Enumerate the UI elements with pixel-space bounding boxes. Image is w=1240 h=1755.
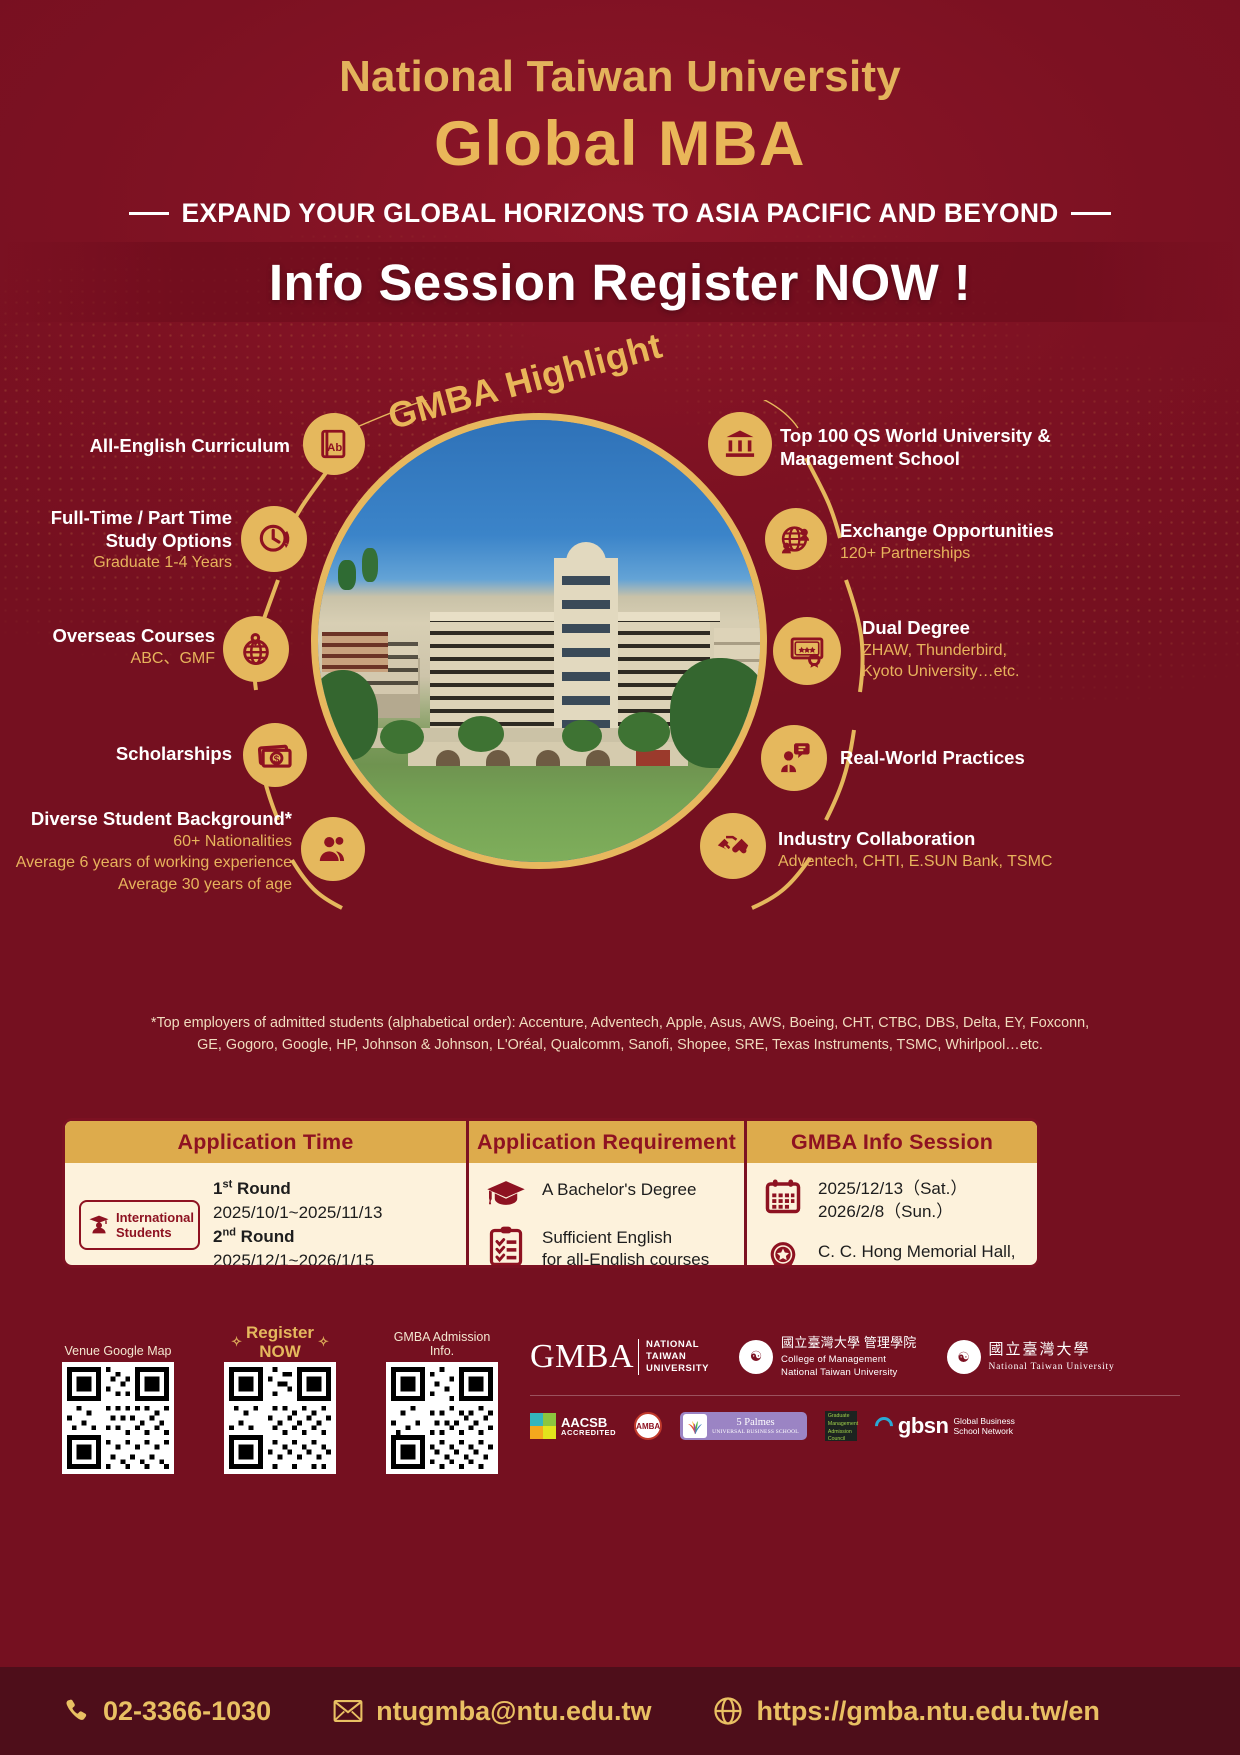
highlight-node-exchange-opportunities[interactable] <box>765 508 827 570</box>
logo-gmba-ntu: GMBA NATIONAL TAIWAN UNIVERSITY <box>530 1338 709 1376</box>
highlight-label-exchange-opportunities: Exchange Opportunities 120+ Partnerships <box>840 520 1054 564</box>
highlight-node-real-world-practices[interactable] <box>761 725 827 791</box>
highlight-label-all-english-curriculum: All-English Curriculum <box>0 435 290 458</box>
highlight-title: Exchange Opportunities <box>840 520 1054 543</box>
highlight-sub-1: 60+ Nationalities <box>0 832 292 853</box>
gbsn-arc-icon <box>871 1413 896 1438</box>
chip-label-line1: International <box>116 1210 194 1225</box>
highlight-sub: 120+ Partnerships <box>840 544 1054 565</box>
round-2-dates: 2025/12/1~2026/1/15 <box>213 1251 374 1268</box>
amba-text: AMBA <box>636 1422 660 1431</box>
contact-phone[interactable]: 02-3366-1030 <box>62 1696 271 1727</box>
globe-pin-icon <box>237 630 275 668</box>
phone-icon <box>62 1697 90 1725</box>
logo-ntu-en: National Taiwan University <box>989 1361 1115 1374</box>
venue-line2: 10F, Building 1, <box>818 1264 1025 1268</box>
sparkle-right-icon: ✧ <box>318 1335 329 1350</box>
calendar-icon <box>761 1177 805 1215</box>
chip-label: International Students <box>116 1210 194 1241</box>
logo-divider <box>530 1395 1180 1396</box>
register-banner-text: Info Session Register NOW ! <box>269 253 971 312</box>
gbsn-sub-line2: School Network <box>953 1426 1014 1436</box>
logo-ntu-cn: 國立臺灣大學 <box>989 1340 1115 1361</box>
highlight-label-industry-collaboration: Industry Collaboration Adventech, CHTI, … <box>778 828 1052 872</box>
panel-gmba-info-session: GMBA Info Session 2025/12/13（Sat.） 2026/… <box>744 1118 1040 1268</box>
highlight-label-dual-degree: Dual Degree ZHAW, Thunderbird, Kyoto Uni… <box>862 617 1019 683</box>
info-session-venue: C. C. Hong Memorial Hall, 10F, Building … <box>818 1240 1025 1268</box>
venue-line1: C. C. Hong Memorial Hall, <box>818 1241 1025 1264</box>
logo-gmac: Graduate Management Admission Council <box>825 1411 857 1441</box>
highlight-node-industry-collaboration[interactable] <box>700 813 766 879</box>
highlight-title: Dual Degree <box>862 617 1019 640</box>
highlight-title: Real-World Practices <box>840 747 1025 770</box>
page-title-line2: Global MBA <box>0 108 1240 180</box>
gbsn-sub-line1: Global Business <box>953 1416 1014 1426</box>
globe-people-icon <box>778 521 814 557</box>
logo-college-cn: 國立臺灣大學 管理學院 <box>781 1334 916 1352</box>
highlight-title: Industry Collaboration <box>778 828 1052 851</box>
info-session-dates: 2025/12/13（Sat.） 2026/2/8（Sun.） <box>818 1177 967 1223</box>
highlight-title-line2: Management School <box>780 448 1051 471</box>
highlight-node-all-english-curriculum[interactable]: Ab <box>303 413 365 475</box>
logo-gmba-subtext: NATIONAL TAIWAN UNIVERSITY <box>638 1339 709 1375</box>
list-item: Sufficient English for all-English cours… <box>483 1225 732 1268</box>
palmes-sub: UNIVERSAL BUSINESS SCHOOL <box>712 1429 799 1435</box>
logo-gmba-wordmark: GMBA <box>530 1338 634 1376</box>
round-2: 2nd Round 2025/12/1~2026/1/15 <box>213 1225 454 1268</box>
poster-header: National Taiwan University Global MBA EX… <box>0 0 1240 229</box>
chip-label-line2: Students <box>116 1225 194 1240</box>
qr-image-register[interactable] <box>224 1362 336 1474</box>
qr-caption-register: ✧ Register NOW ✧ <box>220 1322 340 1362</box>
logo-row-primary: GMBA NATIONAL TAIWAN UNIVERSITY ☯ 國立臺灣大學… <box>530 1330 1180 1384</box>
certificate-icon <box>788 632 826 670</box>
contact-phone-text: 02-3366-1030 <box>103 1696 271 1727</box>
logo-college-line1: College of Management <box>781 1353 916 1366</box>
panel-application-time: Application Time International Students <box>62 1118 466 1268</box>
panel-body: 2025/12/13（Sat.） 2026/2/8（Sun.） C. C. Ho… <box>747 1163 1037 1268</box>
highlight-sub: Adventech, CHTI, E.SUN Bank, TSMC <box>778 852 1052 873</box>
highlight-sub-2: Kyoto University…etc. <box>862 662 1019 683</box>
highlight-node-overseas-courses[interactable] <box>223 616 289 682</box>
panel-body: A Bachelor's Degree Sufficient English f… <box>469 1163 744 1268</box>
logo-college-line2: National Taiwan University <box>781 1366 916 1379</box>
contact-bar: 02-3366-1030 ntugmba@ntu.edu.tw https://… <box>0 1667 1240 1755</box>
qr-gmba-admission-info[interactable]: GMBA Admission Info. <box>382 1322 502 1474</box>
globe-icon <box>713 1696 743 1726</box>
qr-caption: Venue Google Map <box>58 1322 178 1362</box>
list-item-text: A Bachelor's Degree <box>542 1177 696 1201</box>
poster-root: National Taiwan University Global MBA EX… <box>0 0 1240 1755</box>
gbsn-subtext: Global Business School Network <box>953 1416 1014 1437</box>
campus-photo <box>311 413 767 869</box>
envelope-icon <box>333 1697 363 1725</box>
highlight-sub-3: Average 30 years of age <box>0 875 292 896</box>
highlight-sub: ABC、GMF <box>0 649 215 670</box>
highlight-label-overseas-courses: Overseas Courses ABC、GMF <box>0 625 215 669</box>
info-session-date-2: 2026/2/8（Sun.） <box>818 1201 967 1224</box>
list-item: A Bachelor's Degree <box>483 1177 732 1211</box>
list-item-venue: C. C. Hong Memorial Hall, 10F, Building … <box>761 1240 1025 1268</box>
highlight-node-diverse-student-background[interactable] <box>301 817 365 881</box>
list-item-dates: 2025/12/13（Sat.） 2026/2/8（Sun.） <box>761 1177 1025 1223</box>
register-banner: Info Session Register NOW ! <box>0 242 1240 322</box>
round-1-dates: 2025/10/1~2025/11/13 <box>213 1203 382 1222</box>
book-ab-icon: Ab <box>317 427 351 461</box>
tagline-dash-right <box>1071 212 1111 215</box>
table-row: International Students 1st Round 2025/10… <box>79 1177 454 1268</box>
round-1: 1st Round 2025/10/1~2025/11/13 <box>213 1177 454 1225</box>
highlight-label-top-100-qs: Top 100 QS World University & Management… <box>780 425 1051 470</box>
footnote: *Top employers of admitted students (alp… <box>70 1012 1170 1057</box>
highlight-title-line1: Full-Time / Part Time <box>0 507 232 530</box>
palmes-name: 5 Palmes <box>736 1417 774 1428</box>
logo-sub-line3: UNIVERSITY <box>646 1363 709 1375</box>
ntu-seal-icon: ☯ <box>739 1340 773 1374</box>
highlight-sub: Graduate 1-4 Years <box>0 553 232 574</box>
panel-heading: GMBA Info Session <box>747 1121 1037 1163</box>
qr-venue-google-map[interactable]: Venue Google Map <box>58 1322 178 1474</box>
qr-caption-line1: Register <box>246 1323 314 1342</box>
tagline-dash-left <box>129 212 169 215</box>
logo-ntu-text: 國立臺灣大學 National Taiwan University <box>989 1340 1115 1375</box>
logo-amba: AMBA <box>634 1412 662 1440</box>
logo-sub-line2: TAIWAN <box>646 1351 709 1363</box>
qr-image-admission-info[interactable] <box>386 1362 498 1474</box>
aacsb-squares-icon <box>530 1413 556 1439</box>
round-2-label: 2nd Round <box>213 1227 294 1246</box>
qr-caption: GMBA Admission Info. <box>382 1322 502 1362</box>
footnote-line1: *Top employers of admitted students (alp… <box>70 1012 1170 1034</box>
logo-gbsn: gbsn Global Business School Network <box>875 1413 1015 1439</box>
logo-aacsb: AACSB ACCREDITED <box>530 1413 616 1439</box>
logo-5-palmes: 5 Palmes UNIVERSAL BUSINESS SCHOOL <box>680 1412 807 1440</box>
logo-college-of-management: ☯ 國立臺灣大學 管理學院 College of Management Nati… <box>739 1334 916 1379</box>
highlight-title: All-English Curriculum <box>0 435 290 458</box>
qr-register-now[interactable]: ✧ Register NOW ✧ <box>220 1322 340 1474</box>
graduate-student-icon <box>87 1212 111 1239</box>
qr-code-group: Venue Google Map <box>58 1322 502 1474</box>
highlight-node-scholarships[interactable]: $ <box>243 723 307 787</box>
cell-value: 1st Round 2025/10/1~2025/11/13 2nd Round… <box>213 1177 454 1268</box>
bank-icon <box>722 426 758 462</box>
gbsn-wordmark: gbsn <box>898 1413 949 1439</box>
logo-college-text: 國立臺灣大學 管理學院 College of Management Nation… <box>781 1334 916 1379</box>
list-item-text: Sufficient English for all-English cours… <box>542 1225 709 1268</box>
logo-row-accreditations: AACSB ACCREDITED AMBA 5 Palmes UNIVERSAL… <box>530 1405 1180 1447</box>
sparkle-left-icon: ✧ <box>231 1335 242 1350</box>
panel-heading: Application Time <box>65 1121 466 1163</box>
aacsb-sub: ACCREDITED <box>561 1429 616 1437</box>
person-speech-icon <box>776 740 812 776</box>
gmac-text: Graduate Management Admission Council <box>828 1413 858 1442</box>
contact-website-text: https://gmba.ntu.edu.tw/en <box>756 1696 1099 1727</box>
highlight-label-diverse-student-background: Diverse Student Background* 60+ National… <box>0 808 292 896</box>
highlight-node-dual-degree[interactable] <box>773 617 841 685</box>
handshake-icon <box>714 827 752 865</box>
contact-website[interactable]: https://gmba.ntu.edu.tw/en <box>713 1696 1099 1727</box>
map-pin-star-icon <box>761 1240 805 1268</box>
qr-caption-line2: NOW <box>246 1342 314 1361</box>
highlight-sub-2: Average 6 years of working experience <box>0 853 292 874</box>
footnote-line2: GE, Gogoro, Google, HP, Johnson & Johnso… <box>70 1034 1170 1056</box>
clock-refresh-icon <box>255 520 293 558</box>
aacsb-text: AACSB ACCREDITED <box>561 1416 616 1437</box>
campus-photo-image <box>318 420 760 862</box>
page-title-line1: National Taiwan University <box>0 52 1240 102</box>
svg-text:Ab: Ab <box>327 442 342 454</box>
highlight-label-real-world-practices: Real-World Practices <box>840 747 1025 770</box>
clipboard-check-icon <box>483 1225 529 1267</box>
info-session-date-1: 2025/12/13（Sat.） <box>818 1178 967 1201</box>
info-panels: Application Time International Students <box>62 1118 1178 1268</box>
logo-sub-line1: NATIONAL <box>646 1339 709 1351</box>
highlight-label-scholarships: Scholarships <box>0 743 232 766</box>
panel-heading: Application Requirement <box>469 1121 744 1163</box>
highlight-node-top-100-qs[interactable] <box>708 412 772 476</box>
qr-image-venue-map[interactable] <box>62 1362 174 1474</box>
svg-text:$: $ <box>274 754 280 765</box>
panel-application-requirement: Application Requirement A Bachelor's Deg… <box>466 1118 744 1268</box>
palmes-text: 5 Palmes UNIVERSAL BUSINESS SCHOOL <box>712 1417 799 1435</box>
palmes-leaf-icon <box>683 1414 707 1438</box>
highlight-title: Overseas Courses <box>0 625 215 648</box>
chip-international-students: International Students <box>79 1200 200 1250</box>
contact-email-text: ntugmba@ntu.edu.tw <box>376 1696 651 1727</box>
highlight-label-study-options: Full-Time / Part Time Study Options Grad… <box>0 507 232 574</box>
highlight-title-line2: Study Options <box>0 530 232 553</box>
ntu-seal-icon-2: ☯ <box>947 1340 981 1374</box>
highlight-node-study-options[interactable] <box>241 506 307 572</box>
panel-body: International Students 1st Round 2025/10… <box>65 1163 466 1268</box>
highlight-sub-1: ZHAW, Thunderbird, <box>862 641 1019 662</box>
tagline-text: EXPAND YOUR GLOBAL HORIZONS TO ASIA PACI… <box>181 198 1058 229</box>
graduation-cap-icon <box>483 1177 529 1211</box>
round-1-label: 1st Round <box>213 1179 291 1198</box>
highlight-title-line1: Top 100 QS World University & <box>780 425 1051 448</box>
money-icon: $ <box>256 736 294 774</box>
highlight-title: Scholarships <box>0 743 232 766</box>
people-icon <box>315 831 351 867</box>
tagline: EXPAND YOUR GLOBAL HORIZONS TO ASIA PACI… <box>0 198 1240 229</box>
highlight-title: Diverse Student Background* <box>0 808 292 831</box>
contact-email[interactable]: ntugmba@ntu.edu.tw <box>333 1696 651 1727</box>
logo-strip: GMBA NATIONAL TAIWAN UNIVERSITY ☯ 國立臺灣大學… <box>530 1330 1180 1447</box>
logo-national-taiwan-university: ☯ 國立臺灣大學 National Taiwan University <box>947 1340 1115 1375</box>
